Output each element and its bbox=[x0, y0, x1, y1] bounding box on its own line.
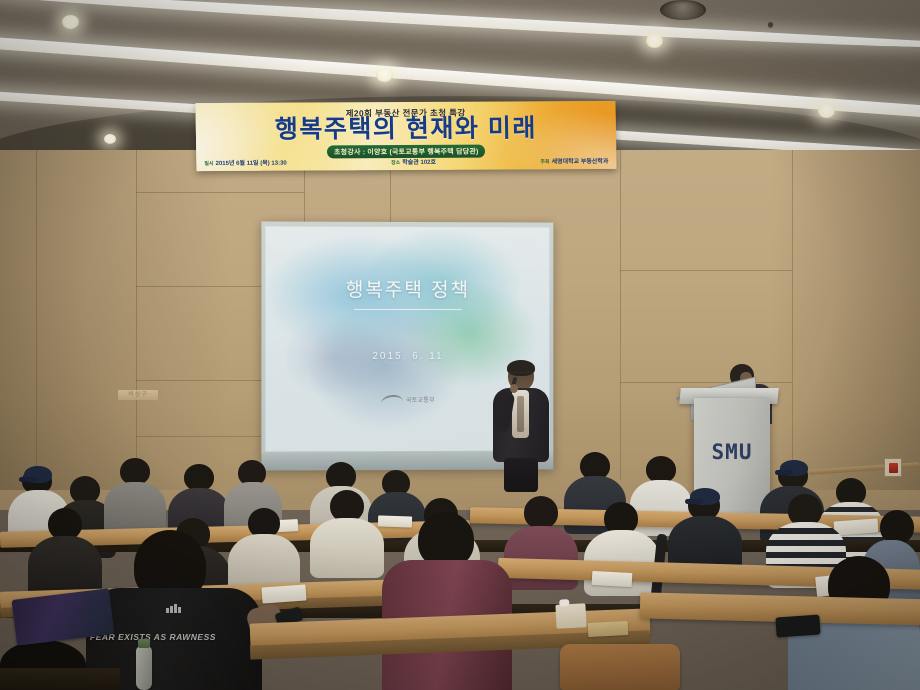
wall-sign-plate: 비상구 bbox=[118, 390, 158, 400]
podium-logo: SMU bbox=[694, 440, 770, 464]
attendee-head bbox=[880, 510, 914, 544]
chair-back[interactable] bbox=[560, 644, 680, 690]
handout-paper bbox=[592, 571, 633, 587]
slide-logo-text: 국토교통부 bbox=[406, 395, 435, 404]
sprinkler-head-icon bbox=[768, 22, 773, 27]
smartphone[interactable] bbox=[775, 614, 820, 637]
handout-paper bbox=[378, 515, 412, 527]
ceiling-spotlight bbox=[376, 68, 393, 82]
baseball-cap-icon bbox=[24, 466, 52, 483]
event-banner: 제20회 부동산 전문가 초청 특강 행복주택의 현재와 미래 초청강사 : 이… bbox=[195, 101, 616, 171]
snack-pack[interactable] bbox=[588, 621, 629, 637]
attendee-head bbox=[184, 464, 214, 491]
banner-host: 주최세명대학교 부동산학과 bbox=[540, 156, 608, 165]
wall-shadow-left bbox=[0, 150, 230, 490]
banner-footer: 일시2015년 6월 11일 (목) 13:30 장소학술관 102호 주최세명… bbox=[204, 156, 608, 167]
presenter-legs bbox=[504, 458, 538, 492]
baseball-cap-icon bbox=[780, 460, 808, 476]
attendee-head bbox=[524, 496, 558, 529]
baseball-cap-icon bbox=[690, 488, 720, 505]
attendee-head bbox=[120, 458, 150, 485]
fire-extinguisher-icon bbox=[884, 458, 902, 477]
swoosh-icon bbox=[381, 394, 404, 405]
presenter-tie bbox=[517, 396, 524, 432]
desk-shadow bbox=[0, 668, 120, 690]
ministry-logo: 국토교통부 bbox=[381, 395, 435, 404]
banner-datetime: 일시2015년 6월 11일 (목) 13:30 bbox=[204, 158, 286, 167]
wall-shadow-right bbox=[770, 150, 920, 490]
ceiling-recessed-light bbox=[660, 0, 706, 20]
shirt-brand-logo-icon bbox=[166, 604, 182, 613]
ceiling-spotlight bbox=[62, 15, 79, 29]
presenter bbox=[488, 362, 554, 490]
bottle-cap bbox=[138, 639, 150, 648]
water-bottle[interactable] bbox=[136, 646, 152, 690]
banner-place: 장소학술관 102호 bbox=[391, 157, 436, 166]
slide-date: 2015. 6. 11 bbox=[265, 351, 549, 362]
presenter-hand bbox=[510, 384, 518, 393]
lecture-hall-photo: 비상구 제20회 부동산 전문가 초청 특강 행복주택의 현재와 미래 초청강사… bbox=[0, 0, 920, 690]
ceiling-spotlight bbox=[104, 134, 116, 144]
slide-divider bbox=[354, 309, 462, 310]
attendee-head bbox=[646, 456, 676, 483]
tissue-box[interactable] bbox=[555, 603, 586, 629]
slide-title: 행복주택 정책 bbox=[265, 275, 549, 302]
ceiling-spotlight bbox=[818, 104, 835, 118]
attendee-body bbox=[310, 518, 384, 578]
banner-title: 행복주택의 현재와 미래 bbox=[196, 114, 616, 145]
handout-paper bbox=[261, 584, 306, 603]
ceiling-spotlight bbox=[646, 34, 663, 48]
